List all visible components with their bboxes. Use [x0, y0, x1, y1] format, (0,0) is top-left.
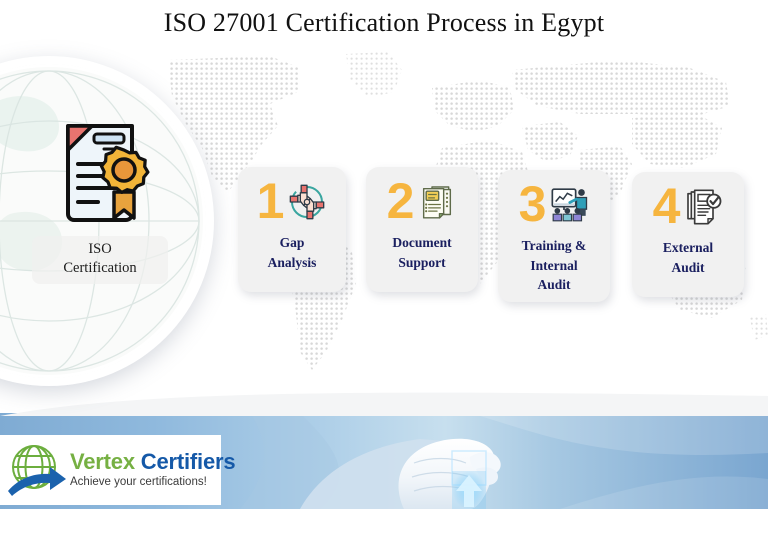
- step-4-label-line2: Audit: [638, 258, 738, 278]
- step-number-4: 4: [653, 181, 681, 231]
- step-number-3: 3: [519, 179, 547, 229]
- document-form-stack-icon: [417, 182, 457, 222]
- logo-name-part1: Vertex: [70, 449, 135, 474]
- step-card-4-header: 4: [632, 172, 744, 236]
- page-title: ISO 27001 Certification Process in Egypt: [0, 8, 768, 38]
- iso-label-line1: ISO: [38, 240, 162, 259]
- infographic-canvas: ISO 27001 Certification Process in Egypt: [0, 0, 768, 543]
- certificate-with-award-seal-icon: [48, 116, 152, 228]
- logo-name-part2: Certifiers: [141, 449, 236, 474]
- training-presentation-icon: [549, 185, 589, 225]
- step-2-label-line1: Document: [372, 233, 472, 253]
- step-1-label-line1: Gap: [244, 233, 340, 253]
- step-3-label-line3: Audit: [504, 275, 604, 295]
- step-card-4-label: External Audit: [632, 236, 744, 285]
- iso-certification-medallion: ISO Certification: [0, 56, 214, 386]
- step-card-2[interactable]: 2: [366, 167, 478, 292]
- step-card-2-label: Document Support: [366, 231, 478, 280]
- audit-documents-check-icon: [683, 187, 723, 227]
- medallion-content: ISO Certification: [0, 96, 200, 346]
- green-globe-blue-arrow-logo-icon: [6, 441, 68, 499]
- iso-certification-label-box: ISO Certification: [32, 236, 168, 284]
- step-3-label-line2: Internal: [504, 256, 604, 276]
- step-1-label-line2: Analysis: [244, 253, 340, 273]
- logo-text-block: Vertex Certifiers Achieve your certifica…: [70, 451, 235, 489]
- step-3-label-line1: Training &: [504, 236, 604, 256]
- step-number-1: 1: [257, 176, 285, 226]
- step-card-1-label: Gap Analysis: [238, 231, 346, 280]
- logo-name: Vertex Certifiers: [70, 451, 235, 473]
- step-card-3-header: 3: [498, 170, 610, 234]
- teamwork-handshake-icon: [287, 182, 327, 222]
- step-number-2: 2: [387, 176, 415, 226]
- iso-label-line2: Certification: [38, 259, 162, 278]
- step-card-4[interactable]: 4 External Audi: [632, 172, 744, 297]
- step-card-1-header: 1: [238, 167, 346, 231]
- step-2-label-line2: Support: [372, 253, 472, 273]
- step-card-1[interactable]: 1 Gap Analysis: [238, 167, 346, 292]
- step-card-3-label: Training & Internal Audit: [498, 234, 610, 303]
- vertex-certifiers-logo[interactable]: Vertex Certifiers Achieve your certifica…: [0, 435, 221, 505]
- logo-tagline: Achieve your certifications!: [70, 477, 235, 489]
- step-card-2-header: 2: [366, 167, 478, 231]
- step-card-3[interactable]: 3: [498, 170, 610, 302]
- step-4-label-line1: External: [638, 238, 738, 258]
